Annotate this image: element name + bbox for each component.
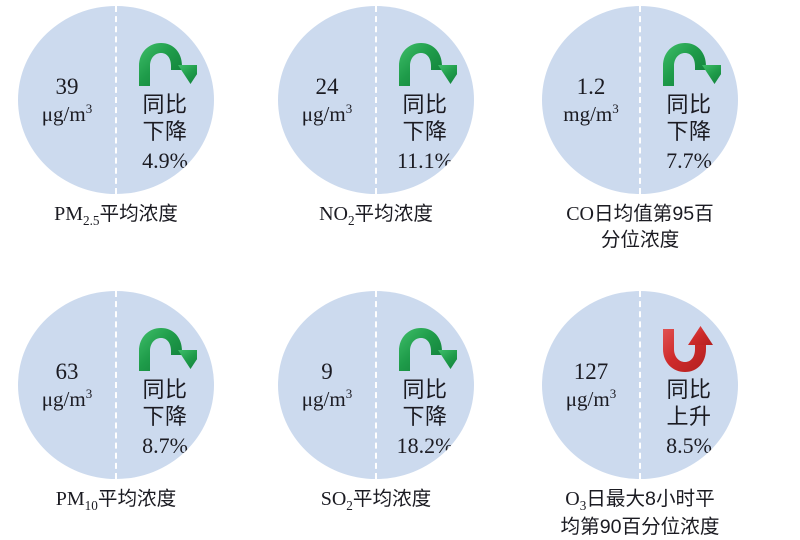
kpi-card[interactable]: 63μg/m3同比下降8.7%PM10平均浓度: [0, 291, 246, 515]
kpi-label-part: 平均浓度: [353, 488, 431, 510]
kpi-label: PM10平均浓度: [0, 487, 246, 515]
arrow-down-curved-icon: [133, 40, 197, 90]
kpi-label-part: PM: [54, 203, 83, 225]
kpi-trend-line-1: 同比: [402, 377, 447, 404]
kpi-value: 63: [56, 358, 79, 385]
kpi-value: 9: [321, 358, 333, 385]
kpi-label-line: PM10平均浓度: [0, 487, 246, 515]
kpi-divider: [639, 6, 641, 194]
arrow-up-curved-icon: [657, 325, 721, 375]
kpi-trend-line-2: 下降: [402, 404, 447, 431]
kpi-label-part: 2: [346, 498, 353, 513]
arrow-down-curved-icon: [393, 325, 457, 375]
kpi-label-line: PM2.5平均浓度: [0, 202, 246, 230]
kpi-label-line: 分位浓度: [510, 228, 770, 254]
arrow-down-curved-icon: [133, 325, 197, 375]
kpi-label: PM2.5平均浓度: [0, 202, 246, 230]
kpi-label-line: CO日均值第95百: [510, 202, 770, 228]
kpi-trend-line-2: 下降: [142, 119, 187, 146]
kpi-circle: 127μg/m3同比上升8.5%: [542, 291, 738, 479]
kpi-divider: [115, 291, 117, 479]
kpi-card[interactable]: 127μg/m3同比上升8.5%O3日最大8小时平均第90百分位浓度: [510, 291, 770, 540]
kpi-label-part: CO: [566, 203, 594, 225]
kpi-value: 24: [316, 73, 339, 100]
kpi-label-part: 均第90百分位浓度: [561, 516, 720, 538]
kpi-trend-half: 同比下降7.7%: [640, 6, 738, 194]
kpi-percent: 8.5%: [666, 432, 712, 460]
kpi-trend-half: 同比上升8.5%: [640, 291, 738, 479]
arrow-down-curved-icon: [657, 40, 721, 90]
kpi-divider: [375, 6, 377, 194]
kpi-trend-line-2: 下降: [402, 119, 447, 146]
arrow-down-curved-icon: [657, 40, 721, 90]
kpi-value: 127: [574, 358, 609, 385]
kpi-percent: 8.7%: [142, 432, 188, 460]
kpi-divider: [639, 291, 641, 479]
kpi-circle: 63μg/m3同比下降8.7%: [18, 291, 214, 479]
kpi-value-half: 39μg/m3: [18, 6, 116, 194]
kpi-label-part: 日均值第95百: [594, 203, 714, 225]
kpi-trend-line-1: 同比: [666, 377, 711, 404]
kpi-unit: μg/m3: [302, 101, 352, 127]
kpi-trend-line-2: 下降: [666, 119, 711, 146]
kpi-label: CO日均值第95百分位浓度: [510, 202, 770, 253]
kpi-trend-half: 同比下降18.2%: [376, 291, 474, 479]
kpi-value-half: 9μg/m3: [278, 291, 376, 479]
kpi-trend-line-1: 同比: [142, 92, 187, 119]
kpi-divider: [375, 291, 377, 479]
kpi-label-part: 平均浓度: [100, 203, 178, 225]
kpi-label-part: 日最大8小时平: [586, 488, 714, 510]
kpi-card[interactable]: 1.2mg/m3同比下降7.7%CO日均值第95百分位浓度: [510, 6, 770, 253]
kpi-trend-half: 同比下降8.7%: [116, 291, 214, 479]
kpi-label-part: SO: [321, 488, 347, 510]
arrow-down-curved-icon: [393, 40, 457, 90]
kpi-unit: mg/m3: [563, 101, 619, 127]
kpi-label-part: 2: [348, 213, 355, 228]
arrow-down-curved-icon: [133, 40, 197, 90]
kpi-percent: 18.2%: [397, 432, 454, 460]
kpi-trend-line-1: 同比: [666, 92, 711, 119]
kpi-trend-half: 同比下降11.1%: [376, 6, 474, 194]
kpi-unit: μg/m3: [566, 386, 616, 412]
kpi-label-part: O: [565, 488, 579, 510]
kpi-trend-line-2: 下降: [142, 404, 187, 431]
kpi-percent: 7.7%: [666, 147, 712, 175]
kpi-unit: μg/m3: [42, 101, 92, 127]
kpi-label-part: NO: [319, 203, 348, 225]
kpi-label: NO2平均浓度: [246, 202, 506, 230]
kpi-trend-line-2: 上升: [666, 404, 711, 431]
kpi-label-part: 分位浓度: [601, 229, 679, 251]
arrow-down-curved-icon: [393, 325, 457, 375]
kpi-value-half: 127μg/m3: [542, 291, 640, 479]
kpi-percent: 11.1%: [397, 147, 453, 175]
kpi-trend-half: 同比下降4.9%: [116, 6, 214, 194]
kpi-label-line: O3日最大8小时平: [510, 487, 770, 515]
kpi-label-part: 10: [85, 498, 98, 513]
kpi-label-part: 平均浓度: [98, 488, 176, 510]
kpi-card[interactable]: 9μg/m3同比下降18.2%SO2平均浓度: [246, 291, 506, 515]
kpi-unit: μg/m3: [42, 386, 92, 412]
kpi-unit: μg/m3: [302, 386, 352, 412]
kpi-label-part: 2.5: [83, 213, 99, 228]
kpi-trend-line-1: 同比: [402, 92, 447, 119]
kpi-card[interactable]: 24μg/m3同比下降11.1%NO2平均浓度: [246, 6, 506, 230]
kpi-value: 39: [56, 73, 79, 100]
kpi-circle: 39μg/m3同比下降4.9%: [18, 6, 214, 194]
arrow-down-curved-icon: [393, 40, 457, 90]
kpi-label: SO2平均浓度: [246, 487, 506, 515]
kpi-card[interactable]: 39μg/m3同比下降4.9%PM2.5平均浓度: [0, 6, 246, 230]
kpi-circle: 1.2mg/m3同比下降7.7%: [542, 6, 738, 194]
kpi-label: O3日最大8小时平均第90百分位浓度: [510, 487, 770, 540]
arrow-down-curved-icon: [133, 325, 197, 375]
kpi-value: 1.2: [577, 73, 606, 100]
kpi-label-line: 均第90百分位浓度: [510, 515, 770, 540]
kpi-label-part: PM: [56, 488, 85, 510]
kpi-value-half: 1.2mg/m3: [542, 6, 640, 194]
kpi-label-line: SO2平均浓度: [246, 487, 506, 515]
kpi-value-half: 63μg/m3: [18, 291, 116, 479]
kpi-value-half: 24μg/m3: [278, 6, 376, 194]
kpi-circle: 9μg/m3同比下降18.2%: [278, 291, 474, 479]
kpi-percent: 4.9%: [142, 147, 188, 175]
kpi-trend-line-1: 同比: [142, 377, 187, 404]
kpi-divider: [115, 6, 117, 194]
arrow-up-curved-icon: [657, 325, 721, 375]
kpi-label-part: 平均浓度: [355, 203, 433, 225]
kpi-label-line: NO2平均浓度: [246, 202, 506, 230]
kpi-board: 39μg/m3同比下降4.9%PM2.5平均浓度24μg/m3同比下降11.1%…: [0, 0, 800, 536]
kpi-circle: 24μg/m3同比下降11.1%: [278, 6, 474, 194]
